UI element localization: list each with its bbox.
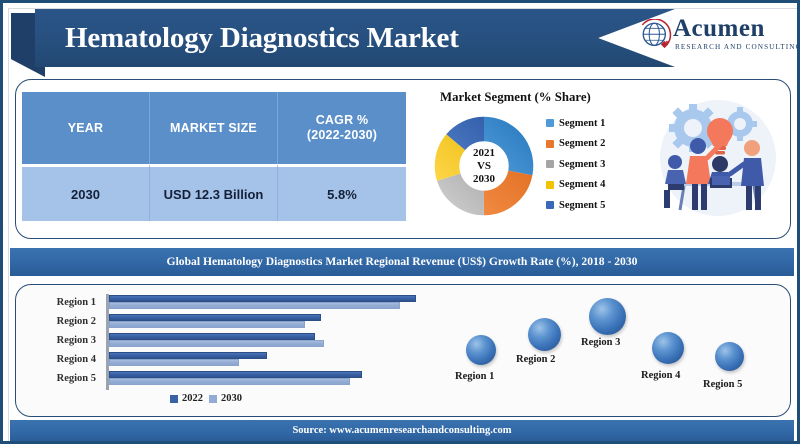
bubble-region-2 [528,318,561,351]
table-header-row: YEAR MARKET SIZE CAGR % (2022-2030) [22,92,406,164]
bubble-region-4 [652,332,684,364]
bubble-region-1 [466,335,496,365]
bubble-region-5 [715,342,744,371]
legend-swatch-segment-2 [546,140,554,148]
header-year-label: YEAR [68,121,104,135]
bar-legend-swatch-2022 [170,395,178,403]
bubble-region-3 [589,298,626,335]
bar-2022-region-5 [109,371,362,378]
logo-tagline: RESEARCH AND CONSULTING [675,43,800,51]
header-banner: Hematology Diagnostics Market Acumen RES… [11,9,793,75]
legend-label-segment-3: Segment 3 [559,159,605,170]
legend-label-segment-1: Segment 1 [559,118,605,129]
page-title: Hematology Diagnostics Market [65,9,625,67]
legend-item-segment-4: Segment 4 [546,175,646,196]
legend-label-segment-4: Segment 4 [559,179,605,190]
logo-wordmark: Acumen [673,16,765,42]
bubble-label-region-3: Region 3 [581,337,620,348]
globe-icon [639,19,673,53]
bar-2022-region-1 [109,295,416,302]
regional-bubble-chart: Region 1 Region 2 Region 3 Region 4 Regi… [428,287,788,416]
bar-legend-label-2022: 2022 [182,393,203,404]
legend-label-segment-2: Segment 2 [559,138,605,149]
table-row: 2030 USD 12.3 Billion 5.8% [22,164,406,221]
legend-item-segment-2: Segment 2 [546,134,646,155]
table-header-year: YEAR [22,92,150,164]
section-banner-title: Global Hematology Diagnostics Market Reg… [10,248,794,276]
bar-2030-region-1 [109,302,400,309]
bar-2022-region-3 [109,333,315,340]
table-header-cagr: CAGR % (2022-2030) [278,92,406,164]
legend-item-segment-5: Segment 5 [546,195,646,216]
bubble-label-region-4: Region 4 [641,370,680,381]
legend-swatch-segment-4 [546,181,554,189]
header-cagr-label: CAGR % [316,113,369,127]
legend-swatch-segment-1 [546,119,554,127]
bar-label-region-3: Region 3 [32,335,96,346]
infographic-page: Hematology Diagnostics Market Acumen RES… [0,0,800,444]
legend-swatch-segment-5 [546,201,554,209]
donut-hole [459,141,508,190]
legend-item-segment-3: Segment 3 [546,154,646,175]
bar-2022-region-2 [109,314,321,321]
bar-label-region-2: Region 2 [32,316,96,327]
bar-legend-swatch-2030 [209,395,217,403]
bar-2030-region-4 [109,359,239,366]
regional-growth-bar-chart: Region 1 Region 2 Region 3 Region 4 Regi… [20,289,424,414]
bar-2030-region-3 [109,340,324,347]
bar-2022-region-4 [109,352,267,359]
segment-donut-chart [428,110,540,222]
header-market-size-label: MARKET SIZE [170,121,257,135]
cell-market-size: USD 12.3 Billion [150,164,278,221]
bubble-label-region-2: Region 2 [516,354,555,365]
header-cagr-range: (2022-2030) [307,128,377,142]
bar-legend-label-2030: 2030 [221,393,242,404]
team-collaboration-illustration [648,86,788,232]
source-footer: Source: www.acumenresearchandconsulting.… [10,420,794,442]
cell-year: 2030 [22,164,150,221]
bubble-label-region-5: Region 5 [703,379,742,390]
market-segment-block: Market Segment (% Share) [420,88,648,234]
bar-chart-legend: 2022 2030 [170,393,242,404]
bar-2030-region-2 [109,321,305,328]
table-header-market-size: MARKET SIZE [150,92,278,164]
legend-swatch-segment-3 [546,160,554,168]
segment-chart-title: Market Segment (% Share) [440,90,591,105]
bar-legend-item-2022: 2022 [170,393,203,404]
cell-cagr: 5.8% [278,164,406,221]
bubble-label-region-1: Region 1 [455,371,494,382]
bottom-charts-card: Region 1 Region 2 Region 3 Region 4 Regi… [15,284,791,417]
bar-label-region-5: Region 5 [32,373,96,384]
bar-label-region-4: Region 4 [32,354,96,365]
legend-item-segment-1: Segment 1 [546,113,646,134]
segment-legend: Segment 1 Segment 2 Segment 3 Segment 4 … [546,113,646,216]
bar-2030-region-5 [109,378,350,385]
top-summary-card: YEAR MARKET SIZE CAGR % (2022-2030) 2030… [15,79,791,239]
bar-label-region-1: Region 1 [32,297,96,308]
legend-label-segment-5: Segment 5 [559,200,605,211]
market-summary-table: YEAR MARKET SIZE CAGR % (2022-2030) 2030… [22,92,406,221]
brand-logo: Acumen RESEARCH AND CONSULTING [639,15,791,61]
bar-legend-item-2030: 2030 [209,393,242,404]
